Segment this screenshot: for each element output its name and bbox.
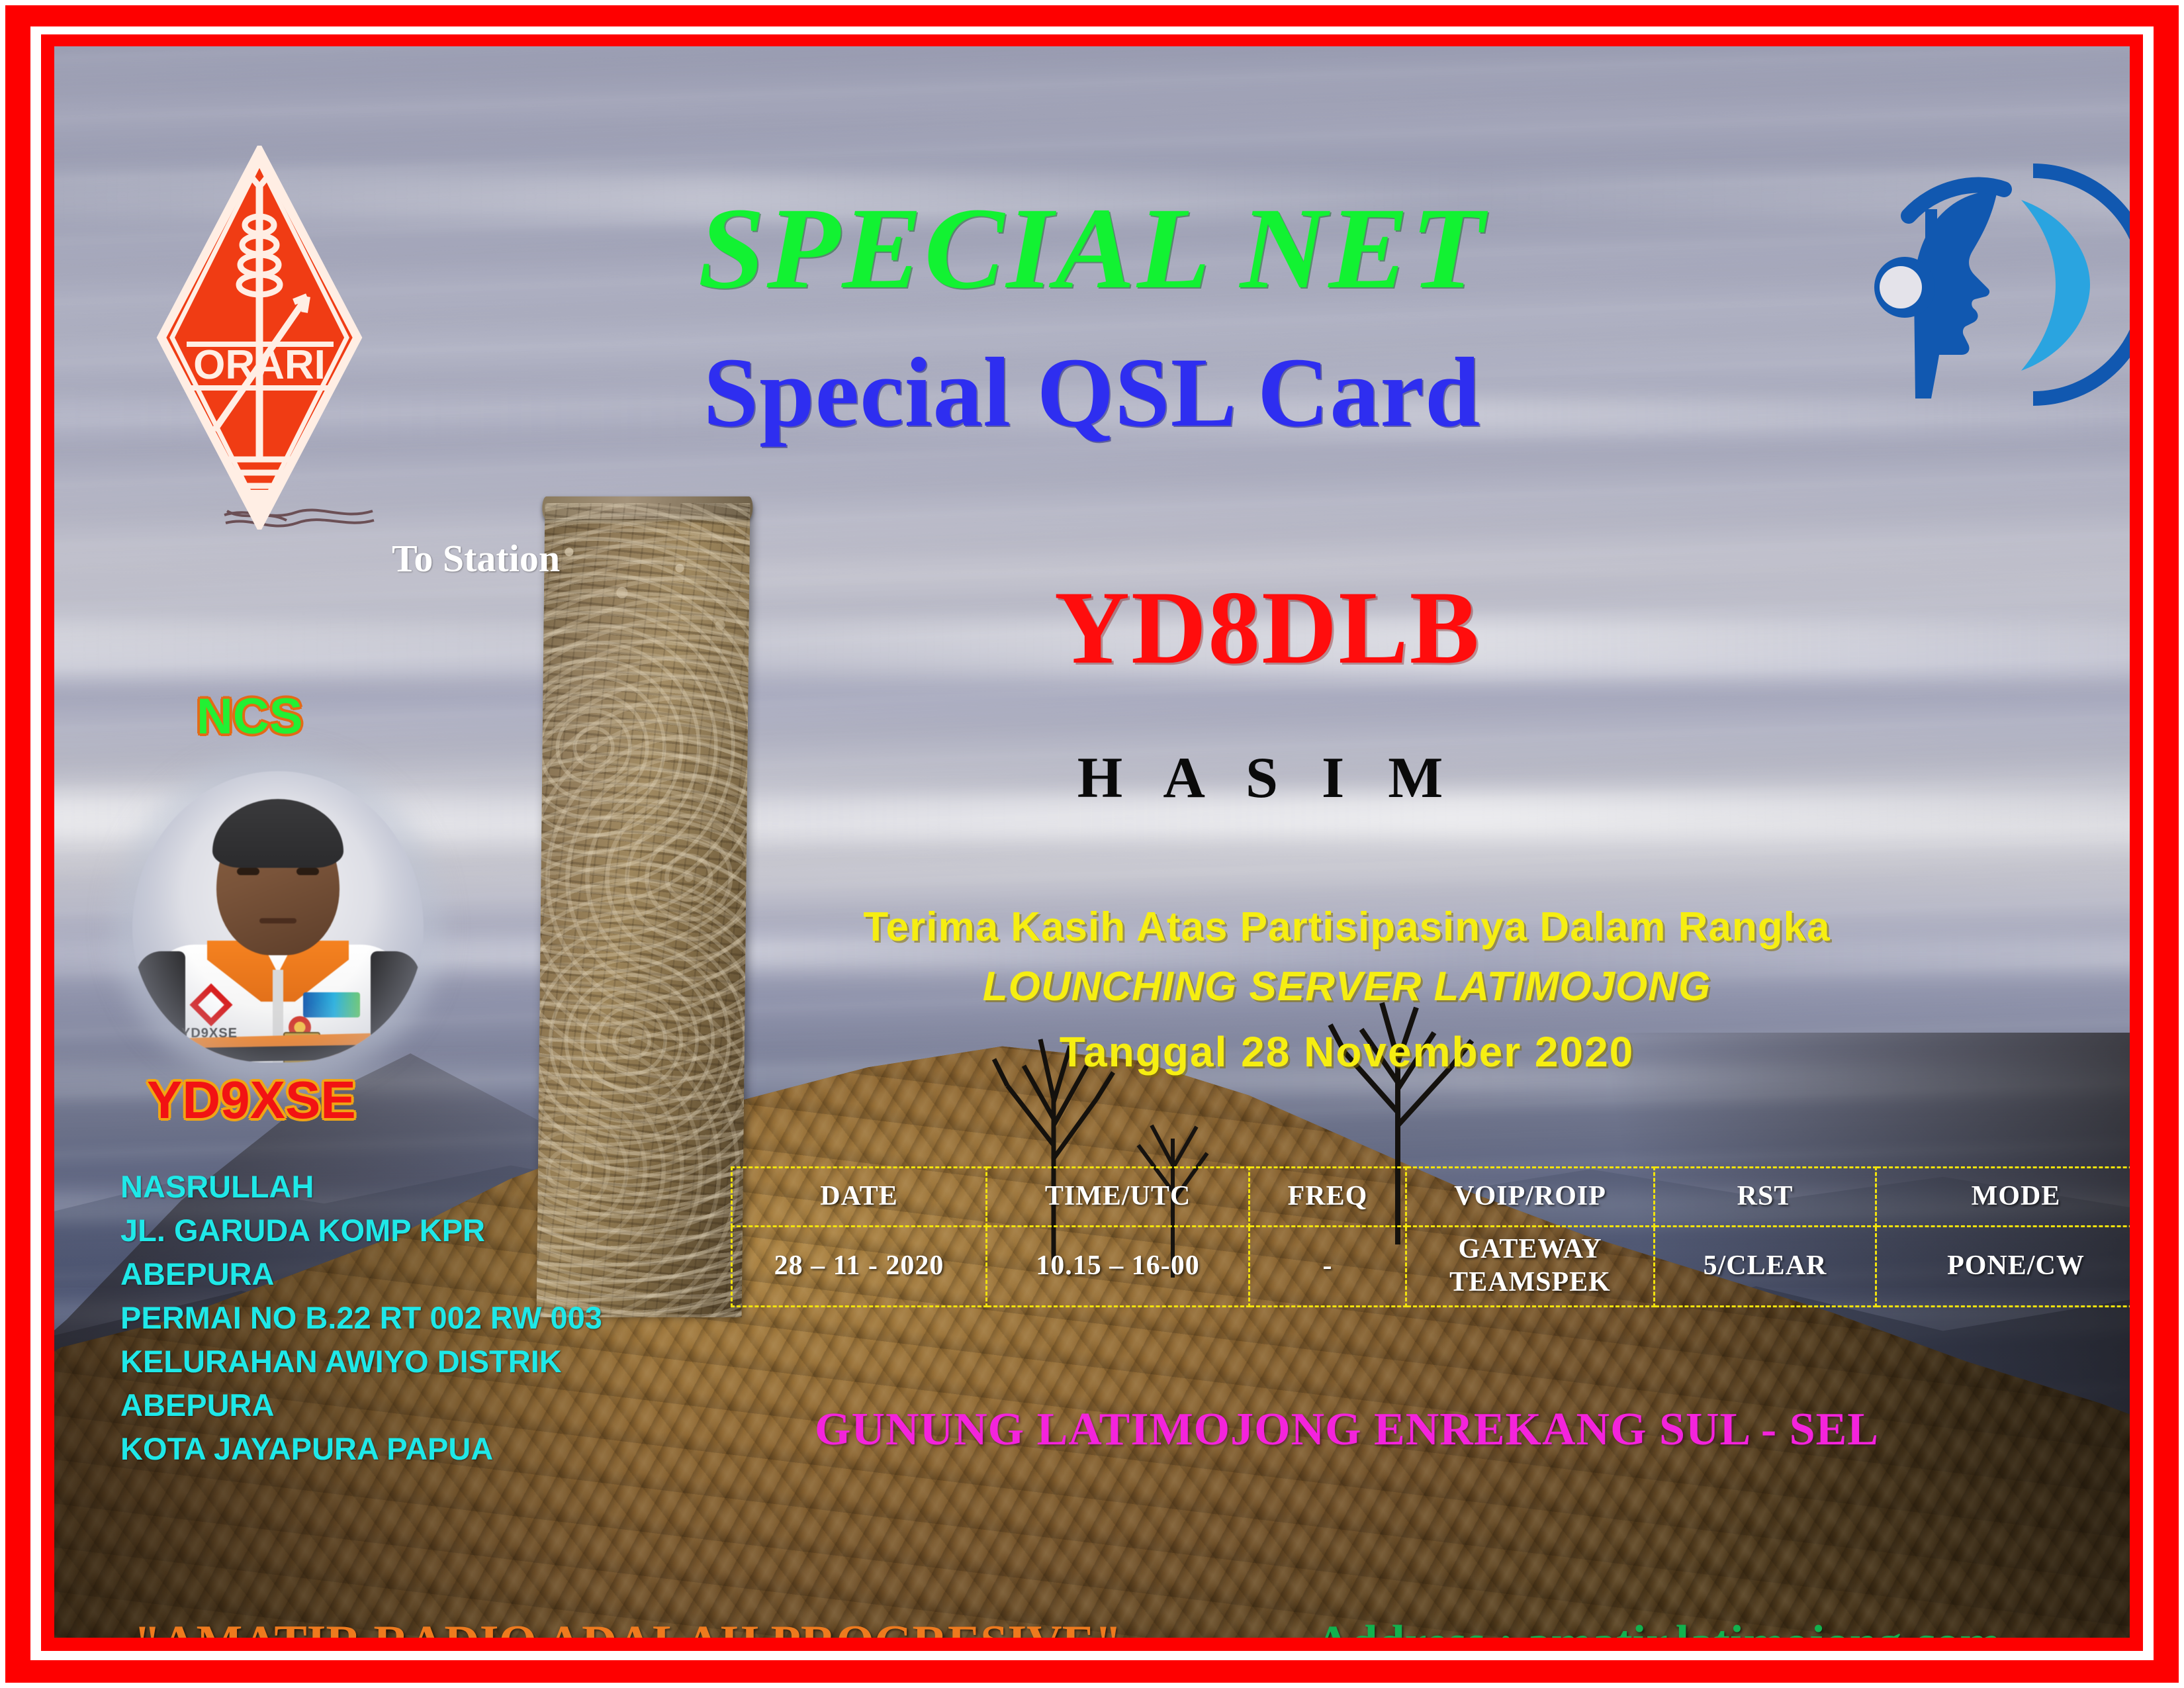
address-line: ABEPURA [120,1252,602,1296]
cell-voip-line2: TEAMSPEK [1449,1267,1611,1297]
page-title: SPECIAL NET [54,191,2130,307]
thanks-line-3: Tanggal 28 November 2020 [729,1031,1964,1073]
table-header-date: DATE [732,1168,987,1227]
address-line: PERMAI NO B.22 RT 002 RW 003 [120,1296,602,1340]
qsl-card: ORARI [0,0,2184,1688]
thanks-line-2: LOUNCHING SERVER LATIMOJONG [729,966,1964,1008]
table-header-rst: RST [1655,1168,1876,1227]
rock-shadow-right [1507,1033,2130,1638]
photo-vignette [132,771,424,1062]
table-header-time: TIME/UTC [987,1168,1250,1227]
table-header-freq: FREQ [1250,1168,1406,1227]
ncs-operator-photo: YD9XSE [132,771,424,1062]
ncs-label: NCS [197,692,302,742]
cell-mode: PONE/CW [1876,1227,2130,1307]
qso-log-table: DATE TIME/UTC FREQ VOIP/ROIP RST MODE 28… [731,1166,2130,1307]
cell-voip-line1: GATEWAY [1458,1234,1602,1264]
station-callsign: YD8DLB [729,576,1805,680]
cell-time: 10.15 – 16-00 [987,1227,1250,1307]
cell-freq: - [1250,1227,1406,1307]
footer-slogan: "AMATIR RADIO ADALAH PROGRESIVE" [134,1618,1122,1638]
address-line: KELURAHAN AWIYO DISTRIK [120,1340,602,1383]
operator-name: H A S I M [729,749,1805,808]
page-subtitle: Special QSL Card [54,343,2130,442]
mailing-address: NASRULLAH JL. GARUDA KOMP KPR ABEPURA PE… [120,1165,602,1471]
footer-web-address: Address : amatir.latimojong.com [1315,1618,2001,1638]
cell-rst: 5/CLEAR [1655,1227,1876,1307]
address-line: KOTA JAYAPURA PAPUA [120,1427,602,1471]
table-header-mode: MODE [1876,1168,2130,1227]
address-line: ABEPURA [120,1383,602,1427]
to-station-label: To Station [392,539,560,578]
location-label: GUNUNG LATIMOJONG ENREKANG SUL - SEL [729,1407,1964,1453]
thanks-line-1: Terima Kasih Atas Partisipasinya Dalam R… [729,907,1964,948]
table-header-row: DATE TIME/UTC FREQ VOIP/ROIP RST MODE [732,1168,2130,1227]
cell-voip: GATEWAY TEAMSPEK [1406,1227,1655,1307]
table-header-voip: VOIP/ROIP [1406,1168,1655,1227]
ncs-callsign: YD9XSE [147,1074,356,1127]
address-line: JL. GARUDA KOMP KPR [120,1209,602,1252]
address-line: NASRULLAH [120,1165,602,1209]
background-photograph: ORARI [54,46,2130,1638]
table-row: 28 – 11 - 2020 10.15 – 16-00 - GATEWAY T… [732,1227,2130,1307]
cell-date: 28 – 11 - 2020 [732,1227,987,1307]
